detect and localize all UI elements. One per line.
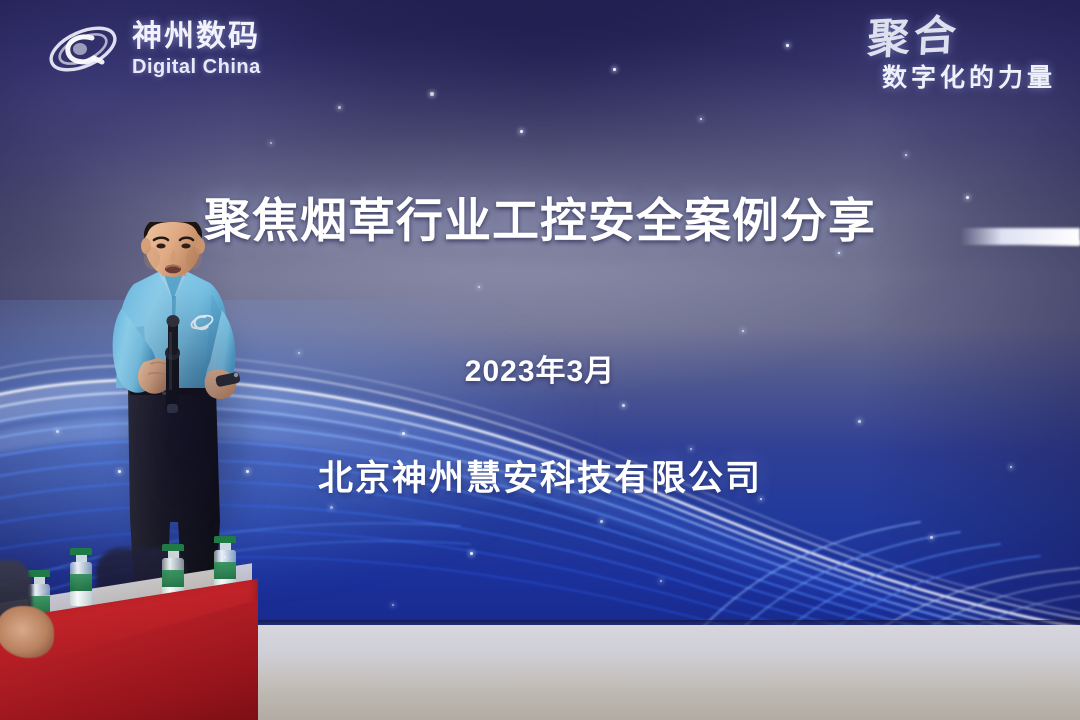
- bottle-label: [214, 562, 236, 579]
- foreground-hand: [0, 606, 54, 658]
- bottle-label: [162, 570, 184, 587]
- event-slogan-subline: 数字化的力量: [868, 58, 1056, 94]
- event-slogan-headline: 聚合: [866, 9, 1057, 61]
- bottle-label: [70, 574, 92, 591]
- logo-name-en: Digital China: [132, 57, 261, 77]
- bottle-cap: [162, 544, 184, 551]
- event-slogan: 聚合 数字化的力量: [868, 14, 1056, 94]
- bottle-cap: [214, 536, 236, 543]
- logo-name-cn: 神州数码: [132, 22, 261, 52]
- bottle-neck: [34, 577, 45, 584]
- logo-wordmark: 神州数码 Digital China: [132, 22, 261, 77]
- bottle-neck: [76, 555, 87, 562]
- galaxy-swirl-icon: [44, 18, 122, 80]
- water-bottle: [70, 548, 92, 606]
- bottle-neck: [220, 543, 231, 550]
- digital-china-logo: 神州数码 Digital China: [44, 18, 261, 80]
- bottle-cap: [70, 548, 92, 555]
- conference-stage-photo: 神州数码 Digital China 聚合 数字化的力量 聚焦烟草行业工控安全案…: [0, 0, 1080, 720]
- bottle-cap: [28, 570, 50, 577]
- bottle-neck: [168, 551, 179, 558]
